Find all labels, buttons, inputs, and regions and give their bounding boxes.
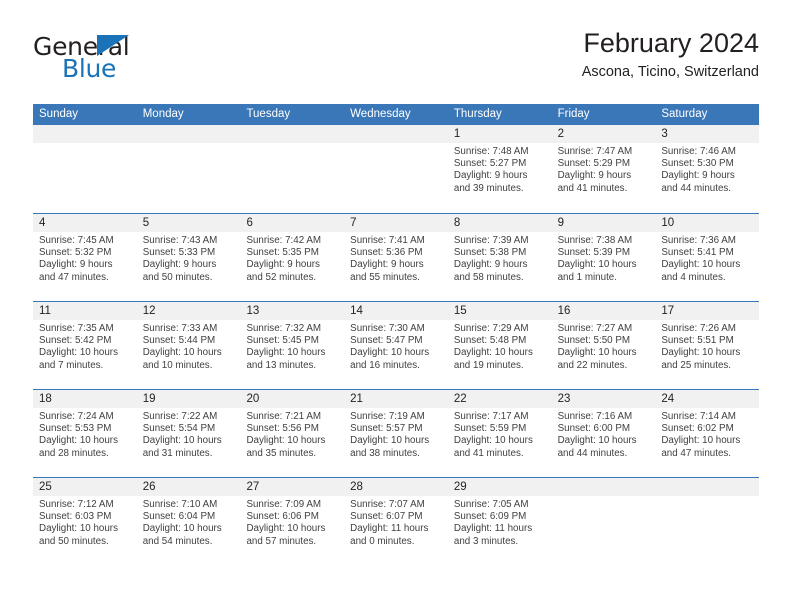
sunset-text: Sunset: 5:42 PM: [39, 335, 131, 347]
daylight-text: Daylight: 10 hours: [661, 259, 753, 271]
title-block: February 2024 Ascona, Ticino, Switzerlan…: [582, 28, 759, 81]
day-sun-info: Sunrise: 7:19 AMSunset: 5:57 PMDaylight:…: [344, 408, 448, 460]
daylight-text: Daylight: 9 hours: [143, 259, 235, 271]
day-number: 29: [448, 478, 552, 496]
day-number: 7: [344, 214, 448, 232]
daylight-text: Daylight: 11 hours: [454, 523, 546, 535]
calendar-day-cell[interactable]: 2Sunrise: 7:47 AMSunset: 5:29 PMDaylight…: [552, 125, 656, 213]
day-sun-info: Sunrise: 7:09 AMSunset: 6:06 PMDaylight:…: [240, 496, 344, 548]
daylight-text: Daylight: 10 hours: [661, 347, 753, 359]
calendar-day-cell[interactable]: 1Sunrise: 7:48 AMSunset: 5:27 PMDaylight…: [448, 125, 552, 213]
daylight-text: Daylight: 10 hours: [39, 523, 131, 535]
daylight-text-cont: and 39 minutes.: [454, 183, 546, 195]
calendar-week-row: 4Sunrise: 7:45 AMSunset: 5:32 PMDaylight…: [33, 213, 759, 301]
day-number: 13: [240, 302, 344, 320]
calendar-day-cell[interactable]: 27Sunrise: 7:09 AMSunset: 6:06 PMDayligh…: [240, 478, 344, 565]
sunset-text: Sunset: 6:02 PM: [661, 423, 753, 435]
day-sun-info: Sunrise: 7:46 AMSunset: 5:30 PMDaylight:…: [655, 143, 759, 195]
day-number: 18: [33, 390, 137, 408]
daylight-text-cont: and 50 minutes.: [39, 536, 131, 548]
weekday-header-row: SundayMondayTuesdayWednesdayThursdayFrid…: [33, 104, 759, 125]
daylight-text: Daylight: 9 hours: [39, 259, 131, 271]
day-number: [33, 125, 137, 143]
daylight-text-cont: and 0 minutes.: [350, 536, 442, 548]
daylight-text-cont: and 54 minutes.: [143, 536, 235, 548]
daylight-text-cont: and 38 minutes.: [350, 448, 442, 460]
day-sun-info: Sunrise: 7:45 AMSunset: 5:32 PMDaylight:…: [33, 232, 137, 284]
day-number: 20: [240, 390, 344, 408]
day-number: 28: [344, 478, 448, 496]
daylight-text-cont: and 41 minutes.: [558, 183, 650, 195]
daylight-text-cont: and 10 minutes.: [143, 360, 235, 372]
daylight-text: Daylight: 10 hours: [246, 435, 338, 447]
calendar-week-row: 18Sunrise: 7:24 AMSunset: 5:53 PMDayligh…: [33, 389, 759, 477]
daylight-text: Daylight: 10 hours: [350, 435, 442, 447]
daylight-text-cont: and 35 minutes.: [246, 448, 338, 460]
weekday-header-wednesday: Wednesday: [344, 104, 448, 125]
calendar-day-cell[interactable]: 28Sunrise: 7:07 AMSunset: 6:07 PMDayligh…: [344, 478, 448, 565]
day-sun-info: Sunrise: 7:48 AMSunset: 5:27 PMDaylight:…: [448, 143, 552, 195]
day-sun-info: Sunrise: 7:24 AMSunset: 5:53 PMDaylight:…: [33, 408, 137, 460]
sunrise-text: Sunrise: 7:32 AM: [246, 323, 338, 335]
daylight-text: Daylight: 10 hours: [39, 347, 131, 359]
day-number: 16: [552, 302, 656, 320]
sunrise-text: Sunrise: 7:26 AM: [661, 323, 753, 335]
daylight-text-cont: and 55 minutes.: [350, 272, 442, 284]
day-number: [655, 478, 759, 496]
day-sun-info: Sunrise: 7:47 AMSunset: 5:29 PMDaylight:…: [552, 143, 656, 195]
sunset-text: Sunset: 5:41 PM: [661, 247, 753, 259]
sunrise-text: Sunrise: 7:17 AM: [454, 411, 546, 423]
calendar-day-cell[interactable]: 25Sunrise: 7:12 AMSunset: 6:03 PMDayligh…: [33, 478, 137, 565]
daylight-text: Daylight: 10 hours: [558, 347, 650, 359]
day-number: 14: [344, 302, 448, 320]
day-sun-info: Sunrise: 7:17 AMSunset: 5:59 PMDaylight:…: [448, 408, 552, 460]
sunrise-text: Sunrise: 7:29 AM: [454, 323, 546, 335]
sunrise-text: Sunrise: 7:07 AM: [350, 499, 442, 511]
sunset-text: Sunset: 6:06 PM: [246, 511, 338, 523]
calendar-weeks: 1Sunrise: 7:48 AMSunset: 5:27 PMDaylight…: [33, 125, 759, 565]
day-number: 1: [448, 125, 552, 143]
sunset-text: Sunset: 6:03 PM: [39, 511, 131, 523]
weekday-header-tuesday: Tuesday: [240, 104, 344, 125]
sunset-text: Sunset: 6:07 PM: [350, 511, 442, 523]
day-sun-info: Sunrise: 7:10 AMSunset: 6:04 PMDaylight:…: [137, 496, 241, 548]
sunrise-text: Sunrise: 7:05 AM: [454, 499, 546, 511]
daylight-text: Daylight: 10 hours: [661, 435, 753, 447]
sunset-text: Sunset: 5:48 PM: [454, 335, 546, 347]
day-number: 27: [240, 478, 344, 496]
daylight-text-cont: and 44 minutes.: [661, 183, 753, 195]
page-title: February 2024: [582, 28, 759, 58]
day-sun-info: Sunrise: 7:07 AMSunset: 6:07 PMDaylight:…: [344, 496, 448, 548]
sunrise-text: Sunrise: 7:30 AM: [350, 323, 442, 335]
day-sun-info: Sunrise: 7:36 AMSunset: 5:41 PMDaylight:…: [655, 232, 759, 284]
daylight-text: Daylight: 10 hours: [143, 523, 235, 535]
sunset-text: Sunset: 5:56 PM: [246, 423, 338, 435]
calendar-day-cell-empty: [552, 478, 656, 565]
calendar-day-cell[interactable]: 12Sunrise: 7:33 AMSunset: 5:44 PMDayligh…: [137, 302, 241, 389]
day-number: 23: [552, 390, 656, 408]
daylight-text: Daylight: 10 hours: [39, 435, 131, 447]
day-number: [552, 478, 656, 496]
weekday-header-sunday: Sunday: [33, 104, 137, 125]
day-sun-info: Sunrise: 7:33 AMSunset: 5:44 PMDaylight:…: [137, 320, 241, 372]
daylight-text-cont: and 50 minutes.: [143, 272, 235, 284]
day-sun-info: Sunrise: 7:27 AMSunset: 5:50 PMDaylight:…: [552, 320, 656, 372]
daylight-text: Daylight: 9 hours: [454, 259, 546, 271]
logo-text-blue: Blue: [62, 56, 116, 81]
sunset-text: Sunset: 5:33 PM: [143, 247, 235, 259]
daylight-text: Daylight: 10 hours: [558, 435, 650, 447]
daylight-text: Daylight: 11 hours: [350, 523, 442, 535]
day-sun-info: Sunrise: 7:43 AMSunset: 5:33 PMDaylight:…: [137, 232, 241, 284]
day-number: 26: [137, 478, 241, 496]
daylight-text: Daylight: 9 hours: [558, 170, 650, 182]
sunset-text: Sunset: 5:45 PM: [246, 335, 338, 347]
daylight-text-cont: and 31 minutes.: [143, 448, 235, 460]
day-number: 19: [137, 390, 241, 408]
sunset-text: Sunset: 6:00 PM: [558, 423, 650, 435]
day-number: [344, 125, 448, 143]
day-sun-info: Sunrise: 7:14 AMSunset: 6:02 PMDaylight:…: [655, 408, 759, 460]
sunrise-text: Sunrise: 7:27 AM: [558, 323, 650, 335]
sunrise-text: Sunrise: 7:36 AM: [661, 235, 753, 247]
weekday-header-friday: Friday: [552, 104, 656, 125]
calendar-day-cell[interactable]: 7Sunrise: 7:41 AMSunset: 5:36 PMDaylight…: [344, 214, 448, 301]
sunset-text: Sunset: 5:30 PM: [661, 158, 753, 170]
daylight-text-cont: and 1 minute.: [558, 272, 650, 284]
calendar-day-cell-empty: [137, 125, 241, 213]
calendar-day-cell-empty: [240, 125, 344, 213]
sunset-text: Sunset: 6:04 PM: [143, 511, 235, 523]
calendar-day-cell[interactable]: 9Sunrise: 7:38 AMSunset: 5:39 PMDaylight…: [552, 214, 656, 301]
sunrise-text: Sunrise: 7:46 AM: [661, 146, 753, 158]
calendar-day-cell[interactable]: 6Sunrise: 7:42 AMSunset: 5:35 PMDaylight…: [240, 214, 344, 301]
daylight-text-cont: and 47 minutes.: [39, 272, 131, 284]
sunset-text: Sunset: 5:54 PM: [143, 423, 235, 435]
sunrise-text: Sunrise: 7:14 AM: [661, 411, 753, 423]
calendar-day-cell[interactable]: 26Sunrise: 7:10 AMSunset: 6:04 PMDayligh…: [137, 478, 241, 565]
daylight-text: Daylight: 10 hours: [246, 523, 338, 535]
daylight-text-cont: and 47 minutes.: [661, 448, 753, 460]
sunrise-text: Sunrise: 7:16 AM: [558, 411, 650, 423]
calendar-day-cell-empty: [33, 125, 137, 213]
daylight-text: Daylight: 10 hours: [454, 347, 546, 359]
day-sun-info: Sunrise: 7:21 AMSunset: 5:56 PMDaylight:…: [240, 408, 344, 460]
day-number: 3: [655, 125, 759, 143]
day-number: 12: [137, 302, 241, 320]
day-sun-info: Sunrise: 7:30 AMSunset: 5:47 PMDaylight:…: [344, 320, 448, 372]
day-number: 2: [552, 125, 656, 143]
daylight-text: Daylight: 9 hours: [246, 259, 338, 271]
calendar-day-cell-empty: [655, 478, 759, 565]
daylight-text: Daylight: 9 hours: [350, 259, 442, 271]
day-sun-info: Sunrise: 7:38 AMSunset: 5:39 PMDaylight:…: [552, 232, 656, 284]
sunrise-text: Sunrise: 7:09 AM: [246, 499, 338, 511]
sunset-text: Sunset: 5:39 PM: [558, 247, 650, 259]
page-header: General Blue February 2024 Ascona, Ticin…: [33, 28, 759, 98]
sunset-text: Sunset: 6:09 PM: [454, 511, 546, 523]
sunrise-text: Sunrise: 7:10 AM: [143, 499, 235, 511]
daylight-text: Daylight: 10 hours: [143, 347, 235, 359]
calendar-day-cell[interactable]: 4Sunrise: 7:45 AMSunset: 5:32 PMDaylight…: [33, 214, 137, 301]
daylight-text: Daylight: 10 hours: [558, 259, 650, 271]
day-number: 15: [448, 302, 552, 320]
sunset-text: Sunset: 5:29 PM: [558, 158, 650, 170]
sunset-text: Sunset: 5:44 PM: [143, 335, 235, 347]
daylight-text-cont: and 7 minutes.: [39, 360, 131, 372]
sunrise-text: Sunrise: 7:45 AM: [39, 235, 131, 247]
calendar-day-cell[interactable]: 22Sunrise: 7:17 AMSunset: 5:59 PMDayligh…: [448, 390, 552, 477]
calendar-day-cell[interactable]: 17Sunrise: 7:26 AMSunset: 5:51 PMDayligh…: [655, 302, 759, 389]
sunset-text: Sunset: 5:36 PM: [350, 247, 442, 259]
sunset-text: Sunset: 5:59 PM: [454, 423, 546, 435]
sunset-text: Sunset: 5:51 PM: [661, 335, 753, 347]
calendar-day-cell[interactable]: 19Sunrise: 7:22 AMSunset: 5:54 PMDayligh…: [137, 390, 241, 477]
day-number: 24: [655, 390, 759, 408]
day-sun-info: Sunrise: 7:41 AMSunset: 5:36 PMDaylight:…: [344, 232, 448, 284]
calendar-day-cell[interactable]: 18Sunrise: 7:24 AMSunset: 5:53 PMDayligh…: [33, 390, 137, 477]
sunrise-text: Sunrise: 7:33 AM: [143, 323, 235, 335]
calendar-week-row: 1Sunrise: 7:48 AMSunset: 5:27 PMDaylight…: [33, 125, 759, 213]
daylight-text: Daylight: 10 hours: [454, 435, 546, 447]
sunrise-text: Sunrise: 7:39 AM: [454, 235, 546, 247]
daylight-text-cont: and 16 minutes.: [350, 360, 442, 372]
calendar-day-cell[interactable]: 8Sunrise: 7:39 AMSunset: 5:38 PMDaylight…: [448, 214, 552, 301]
day-sun-info: Sunrise: 7:29 AMSunset: 5:48 PMDaylight:…: [448, 320, 552, 372]
sunset-text: Sunset: 5:27 PM: [454, 158, 546, 170]
calendar-day-cell[interactable]: 21Sunrise: 7:19 AMSunset: 5:57 PMDayligh…: [344, 390, 448, 477]
day-number: 9: [552, 214, 656, 232]
sunrise-text: Sunrise: 7:12 AM: [39, 499, 131, 511]
triangle-logo-mark-icon: [97, 35, 129, 56]
sunset-text: Sunset: 5:38 PM: [454, 247, 546, 259]
daylight-text-cont: and 58 minutes.: [454, 272, 546, 284]
calendar-day-cell[interactable]: 29Sunrise: 7:05 AMSunset: 6:09 PMDayligh…: [448, 478, 552, 565]
calendar-day-cell-empty: [344, 125, 448, 213]
day-sun-info: Sunrise: 7:32 AMSunset: 5:45 PMDaylight:…: [240, 320, 344, 372]
day-sun-info: Sunrise: 7:22 AMSunset: 5:54 PMDaylight:…: [137, 408, 241, 460]
day-sun-info: Sunrise: 7:26 AMSunset: 5:51 PMDaylight:…: [655, 320, 759, 372]
calendar-day-cell[interactable]: 20Sunrise: 7:21 AMSunset: 5:56 PMDayligh…: [240, 390, 344, 477]
day-number: 4: [33, 214, 137, 232]
sunset-text: Sunset: 5:47 PM: [350, 335, 442, 347]
daylight-text-cont: and 19 minutes.: [454, 360, 546, 372]
day-number: 11: [33, 302, 137, 320]
day-sun-info: Sunrise: 7:35 AMSunset: 5:42 PMDaylight:…: [33, 320, 137, 372]
sunrise-text: Sunrise: 7:47 AM: [558, 146, 650, 158]
daylight-text: Daylight: 10 hours: [350, 347, 442, 359]
sunset-text: Sunset: 5:50 PM: [558, 335, 650, 347]
weekday-header-saturday: Saturday: [655, 104, 759, 125]
sunrise-text: Sunrise: 7:43 AM: [143, 235, 235, 247]
calendar-day-cell[interactable]: 3Sunrise: 7:46 AMSunset: 5:30 PMDaylight…: [655, 125, 759, 213]
calendar-week-row: 11Sunrise: 7:35 AMSunset: 5:42 PMDayligh…: [33, 301, 759, 389]
sunrise-text: Sunrise: 7:38 AM: [558, 235, 650, 247]
day-number: 17: [655, 302, 759, 320]
sunrise-text: Sunrise: 7:19 AM: [350, 411, 442, 423]
day-number: 6: [240, 214, 344, 232]
calendar-day-cell[interactable]: 11Sunrise: 7:35 AMSunset: 5:42 PMDayligh…: [33, 302, 137, 389]
day-sun-info: Sunrise: 7:05 AMSunset: 6:09 PMDaylight:…: [448, 496, 552, 548]
day-number: [240, 125, 344, 143]
sunrise-text: Sunrise: 7:41 AM: [350, 235, 442, 247]
day-sun-info: Sunrise: 7:12 AMSunset: 6:03 PMDaylight:…: [33, 496, 137, 548]
sunrise-text: Sunrise: 7:24 AM: [39, 411, 131, 423]
sunrise-text: Sunrise: 7:42 AM: [246, 235, 338, 247]
day-number: 22: [448, 390, 552, 408]
sunrise-text: Sunrise: 7:22 AM: [143, 411, 235, 423]
page-subtitle-location: Ascona, Ticino, Switzerland: [582, 65, 759, 81]
daylight-text: Daylight: 10 hours: [143, 435, 235, 447]
day-sun-info: Sunrise: 7:39 AMSunset: 5:38 PMDaylight:…: [448, 232, 552, 284]
day-number: 21: [344, 390, 448, 408]
sunrise-text: Sunrise: 7:35 AM: [39, 323, 131, 335]
calendar-day-cell[interactable]: 23Sunrise: 7:16 AMSunset: 6:00 PMDayligh…: [552, 390, 656, 477]
daylight-text-cont: and 44 minutes.: [558, 448, 650, 460]
day-number: 10: [655, 214, 759, 232]
daylight-text-cont: and 57 minutes.: [246, 536, 338, 548]
calendar-day-cell[interactable]: 5Sunrise: 7:43 AMSunset: 5:33 PMDaylight…: [137, 214, 241, 301]
sunrise-text: Sunrise: 7:48 AM: [454, 146, 546, 158]
daylight-text-cont: and 28 minutes.: [39, 448, 131, 460]
calendar-week-row: 25Sunrise: 7:12 AMSunset: 6:03 PMDayligh…: [33, 477, 759, 565]
day-number: 8: [448, 214, 552, 232]
sunset-text: Sunset: 5:35 PM: [246, 247, 338, 259]
daylight-text-cont: and 41 minutes.: [454, 448, 546, 460]
general-blue-logo[interactable]: General Blue: [33, 34, 233, 92]
sunset-text: Sunset: 5:57 PM: [350, 423, 442, 435]
weekday-header-thursday: Thursday: [448, 104, 552, 125]
calendar-day-cell[interactable]: 10Sunrise: 7:36 AMSunset: 5:41 PMDayligh…: [655, 214, 759, 301]
calendar-day-cell[interactable]: 16Sunrise: 7:27 AMSunset: 5:50 PMDayligh…: [552, 302, 656, 389]
day-number: 5: [137, 214, 241, 232]
daylight-text: Daylight: 9 hours: [454, 170, 546, 182]
daylight-text-cont: and 13 minutes.: [246, 360, 338, 372]
daylight-text-cont: and 4 minutes.: [661, 272, 753, 284]
sunset-text: Sunset: 5:53 PM: [39, 423, 131, 435]
day-number: 25: [33, 478, 137, 496]
calendar-grid: SundayMondayTuesdayWednesdayThursdayFrid…: [33, 104, 759, 565]
daylight-text-cont: and 52 minutes.: [246, 272, 338, 284]
day-number: [137, 125, 241, 143]
daylight-text: Daylight: 10 hours: [246, 347, 338, 359]
daylight-text-cont: and 25 minutes.: [661, 360, 753, 372]
daylight-text-cont: and 3 minutes.: [454, 536, 546, 548]
weekday-header-monday: Monday: [137, 104, 241, 125]
calendar-day-cell[interactable]: 15Sunrise: 7:29 AMSunset: 5:48 PMDayligh…: [448, 302, 552, 389]
calendar-day-cell[interactable]: 14Sunrise: 7:30 AMSunset: 5:47 PMDayligh…: [344, 302, 448, 389]
sunrise-text: Sunrise: 7:21 AM: [246, 411, 338, 423]
calendar-day-cell[interactable]: 24Sunrise: 7:14 AMSunset: 6:02 PMDayligh…: [655, 390, 759, 477]
daylight-text: Daylight: 9 hours: [661, 170, 753, 182]
day-sun-info: Sunrise: 7:42 AMSunset: 5:35 PMDaylight:…: [240, 232, 344, 284]
sunset-text: Sunset: 5:32 PM: [39, 247, 131, 259]
daylight-text-cont: and 22 minutes.: [558, 360, 650, 372]
calendar-day-cell[interactable]: 13Sunrise: 7:32 AMSunset: 5:45 PMDayligh…: [240, 302, 344, 389]
day-sun-info: Sunrise: 7:16 AMSunset: 6:00 PMDaylight:…: [552, 408, 656, 460]
calendar-page: General Blue February 2024 Ascona, Ticin…: [0, 0, 792, 612]
